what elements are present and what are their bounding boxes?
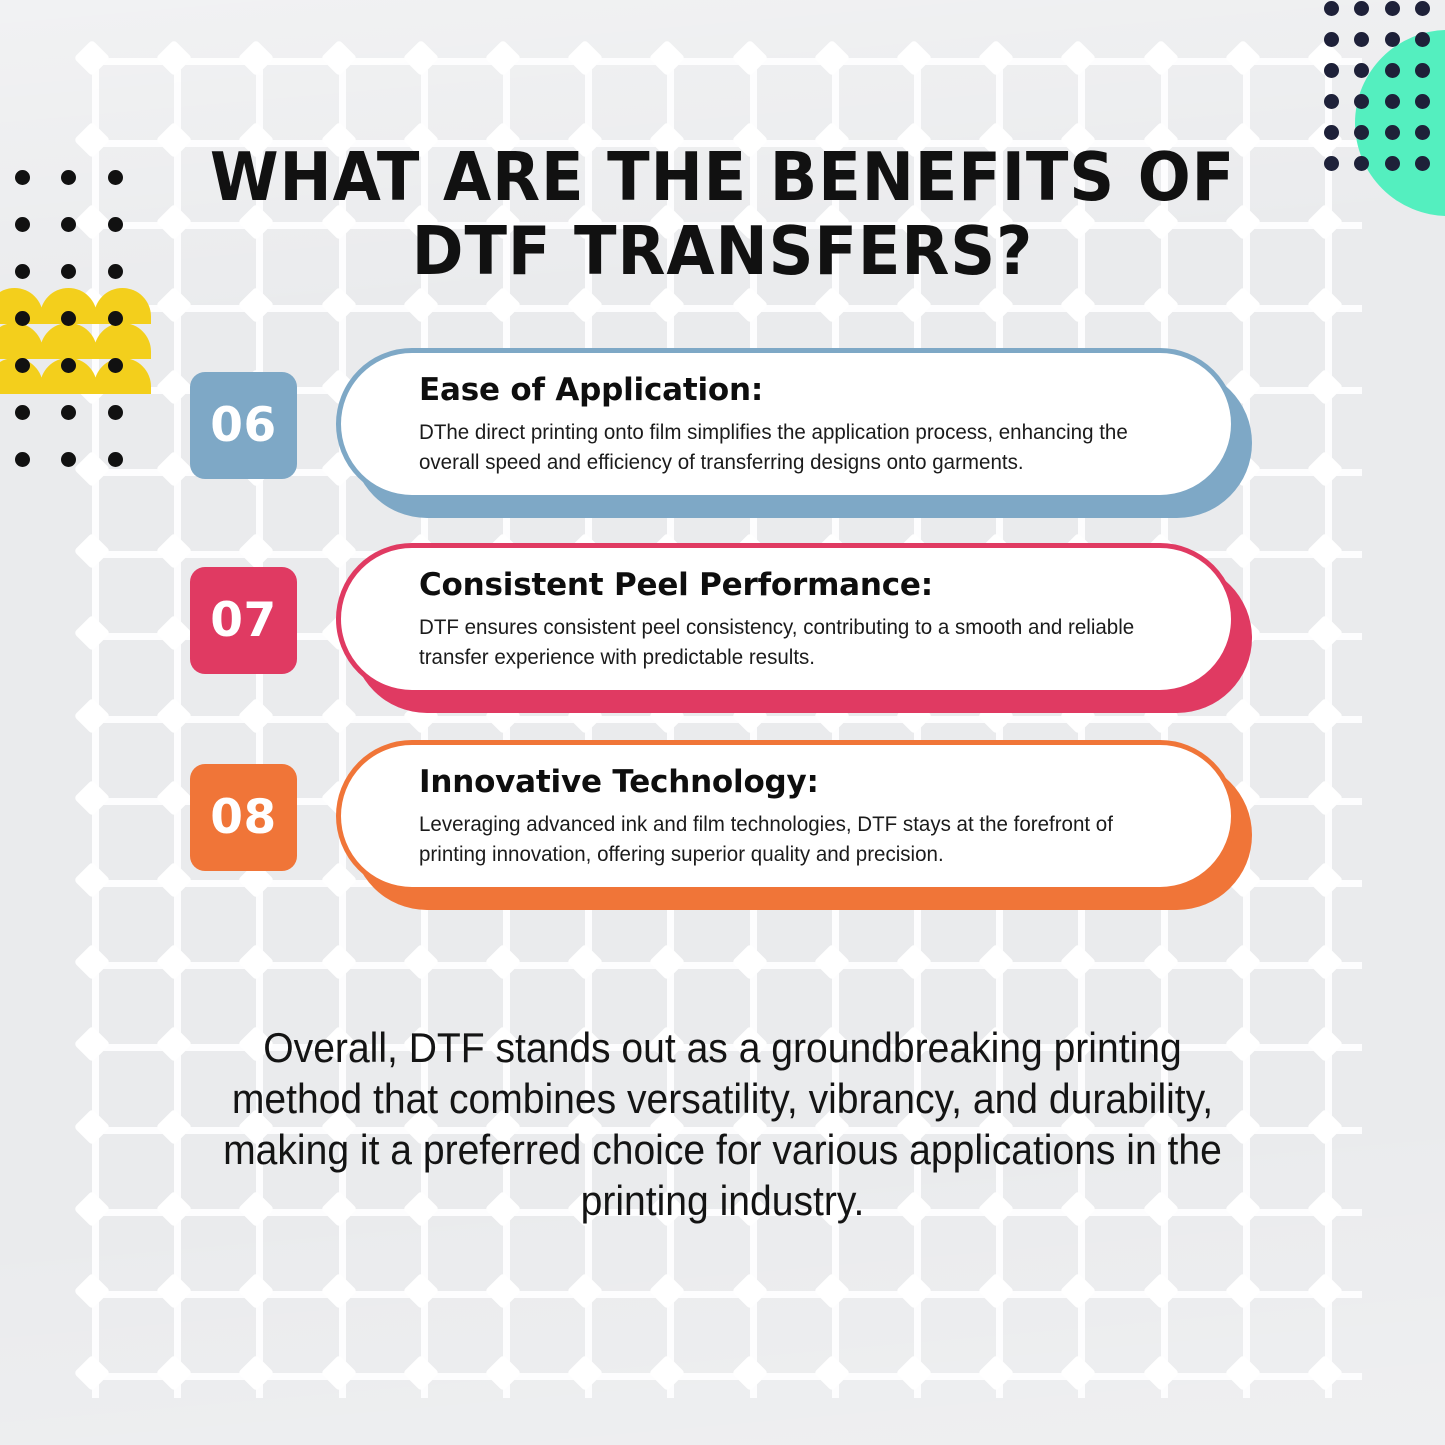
card-body-07: DTF ensures consistent peel consistency,… <box>419 612 1170 672</box>
card-body-06: DThe direct printing onto film simplifie… <box>419 417 1170 477</box>
card-content-07: Consistent Peel Performance: DTF ensures… <box>419 566 1205 672</box>
left-semicircle-pattern <box>0 0 200 420</box>
card-title-08: Innovative Technology: <box>419 763 1205 801</box>
summary-paragraph: Overall, DTF stands out as a groundbreak… <box>213 1022 1231 1226</box>
card-number-label-07: 07 <box>210 593 276 648</box>
page-title: WHAT ARE THE BENEFITS OF DTF TRANSFERS? <box>190 140 1255 288</box>
benefit-card-08[interactable]: Innovative Technology: Leveraging advanc… <box>336 740 1236 892</box>
card-number-badge-08: 08 <box>190 764 297 871</box>
card-title-07: Consistent Peel Performance: <box>419 566 1205 604</box>
benefit-card-06[interactable]: Ease of Application: DThe direct printin… <box>336 348 1236 500</box>
card-number-badge-07: 07 <box>190 567 297 674</box>
infographic-poster: WHAT ARE THE BENEFITS OF DTF TRANSFERS? … <box>0 0 1445 1445</box>
teal-circle-decoration <box>1355 30 1445 216</box>
card-title-06: Ease of Application: <box>419 371 1205 409</box>
benefit-card-07[interactable]: Consistent Peel Performance: DTF ensures… <box>336 543 1236 695</box>
card-number-label-08: 08 <box>210 790 276 845</box>
card-number-badge-06: 06 <box>190 372 297 479</box>
card-content-06: Ease of Application: DThe direct printin… <box>419 371 1205 477</box>
card-number-label-06: 06 <box>210 398 276 453</box>
card-content-08: Innovative Technology: Leveraging advanc… <box>419 763 1205 869</box>
card-body-08: Leveraging advanced ink and film technol… <box>419 809 1170 869</box>
left-dot-grid <box>0 0 200 420</box>
